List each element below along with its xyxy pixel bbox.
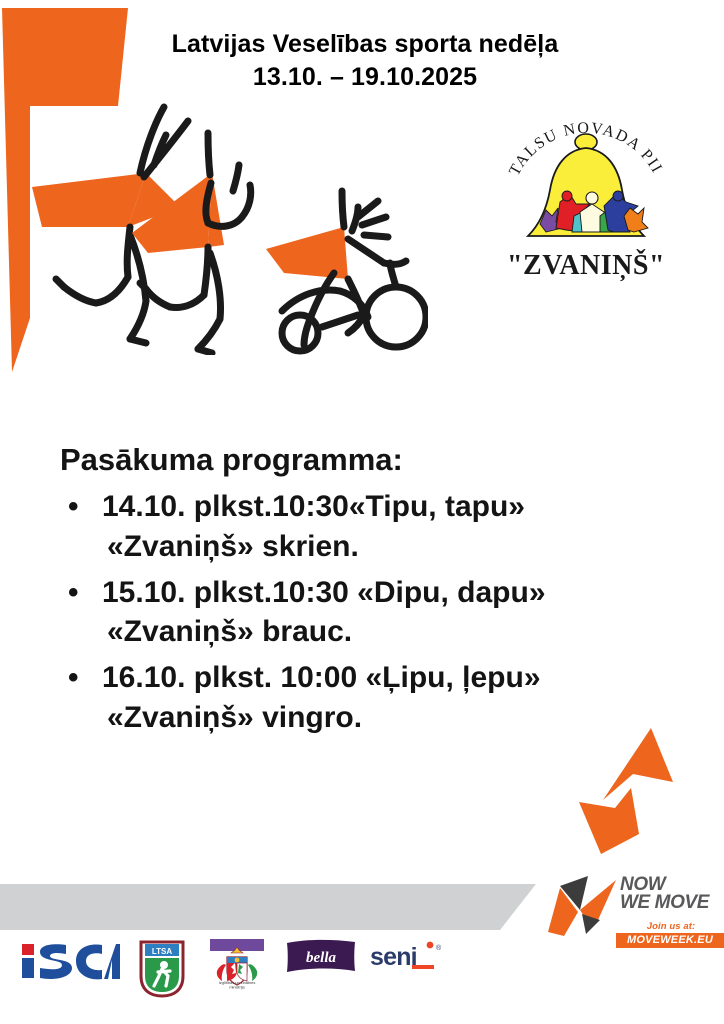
list-item: • 16.10. plkst. 10:00 «Ļipu, ļepu» «Zvan…	[60, 658, 670, 738]
organizer-bell-logo: TALSU NOVADA PII "ZVANIŅŠ"	[496, 104, 676, 294]
programme-item-line2: «Zvaniņš» brauc.	[102, 612, 670, 652]
ltsa-shield-icon: LTSA	[136, 938, 188, 1000]
programme-item-line1: 15.10. plkst.10:30 «Dipu, dapu»	[102, 576, 546, 609]
now-we-move-logo: NOW WE MOVE Join us at: MOVEWEEK.EU	[546, 868, 724, 956]
bella-icon: bella	[284, 938, 358, 974]
bullet-glyph: •	[68, 573, 79, 613]
sport-figures-illustration	[28, 95, 428, 355]
isca-icon	[18, 938, 122, 982]
grey-diagonal-band	[0, 884, 560, 930]
moveweek-url-badge[interactable]: MOVEWEEK.EU	[616, 933, 724, 948]
bullet-glyph: •	[68, 658, 79, 698]
programme-item-line1: 14.10. plkst.10:30«Tipu, tapu»	[102, 490, 525, 523]
seni-registered-mark: ®	[436, 944, 442, 952]
sponsor-logo-bella: bella	[284, 938, 358, 979]
page-title: Latvijas Veselības sporta nedēļa 13.10. …	[120, 28, 610, 94]
now-we-move-arrow-mark	[546, 874, 618, 936]
decorative-orange-chevrons	[575, 722, 710, 872]
title-line-1: Latvijas Veselības sporta nedēļa	[120, 28, 610, 61]
list-item: • 14.10. plkst.10:30«Tipu, tapu» «Zvaniņ…	[60, 487, 670, 567]
bella-wordmark: bella	[306, 950, 336, 966]
poster-canvas: Latvijas Veselības sporta nedēļa 13.10. …	[0, 0, 724, 1024]
sponsor-logo-ministry: Izglītības un zinātnes ministrija	[200, 938, 274, 995]
sponsor-logo-isca	[18, 938, 122, 987]
sponsor-logo-ltsa: LTSA	[136, 938, 188, 1005]
bell-logo-name: "ZVANIŅŠ"	[507, 250, 665, 282]
programme-item-line2: «Zvaniņš» vingro.	[102, 698, 670, 738]
ministry-caption-line2: ministrija	[229, 985, 245, 990]
cyclist-figure	[266, 191, 426, 351]
sponsor-logo-seni: seni ®	[368, 938, 444, 979]
title-line-2: 13.10. – 19.10.2025	[120, 61, 610, 94]
programme-section: Pasākuma programma: • 14.10. plkst.10:30…	[60, 443, 670, 744]
join-us-label: Join us at:	[618, 921, 724, 932]
seni-icon: seni ®	[368, 938, 444, 974]
now-we-move-word-wemove: WE MOVE	[620, 894, 724, 912]
sponsor-logo-strip: LTSA	[18, 938, 438, 1014]
list-item: • 15.10. plkst.10:30 «Dipu, dapu» «Zvani…	[60, 573, 670, 653]
now-we-move-wordmark: NOW WE MOVE	[620, 876, 724, 913]
latvia-coat-of-arms-icon: Izglītības un zinātnes ministrija	[200, 938, 274, 990]
programme-list: • 14.10. plkst.10:30«Tipu, tapu» «Zvaniņ…	[60, 487, 670, 738]
seni-wordmark: seni	[370, 943, 417, 971]
bullet-glyph: •	[68, 487, 79, 527]
programme-heading: Pasākuma programma:	[60, 443, 670, 478]
programme-item-line2: «Zvaniņš» skrien.	[102, 527, 670, 567]
ltsa-wordmark: LTSA	[152, 947, 173, 956]
programme-item-line1: 16.10. plkst. 10:00 «Ļipu, ļepu»	[102, 661, 541, 694]
